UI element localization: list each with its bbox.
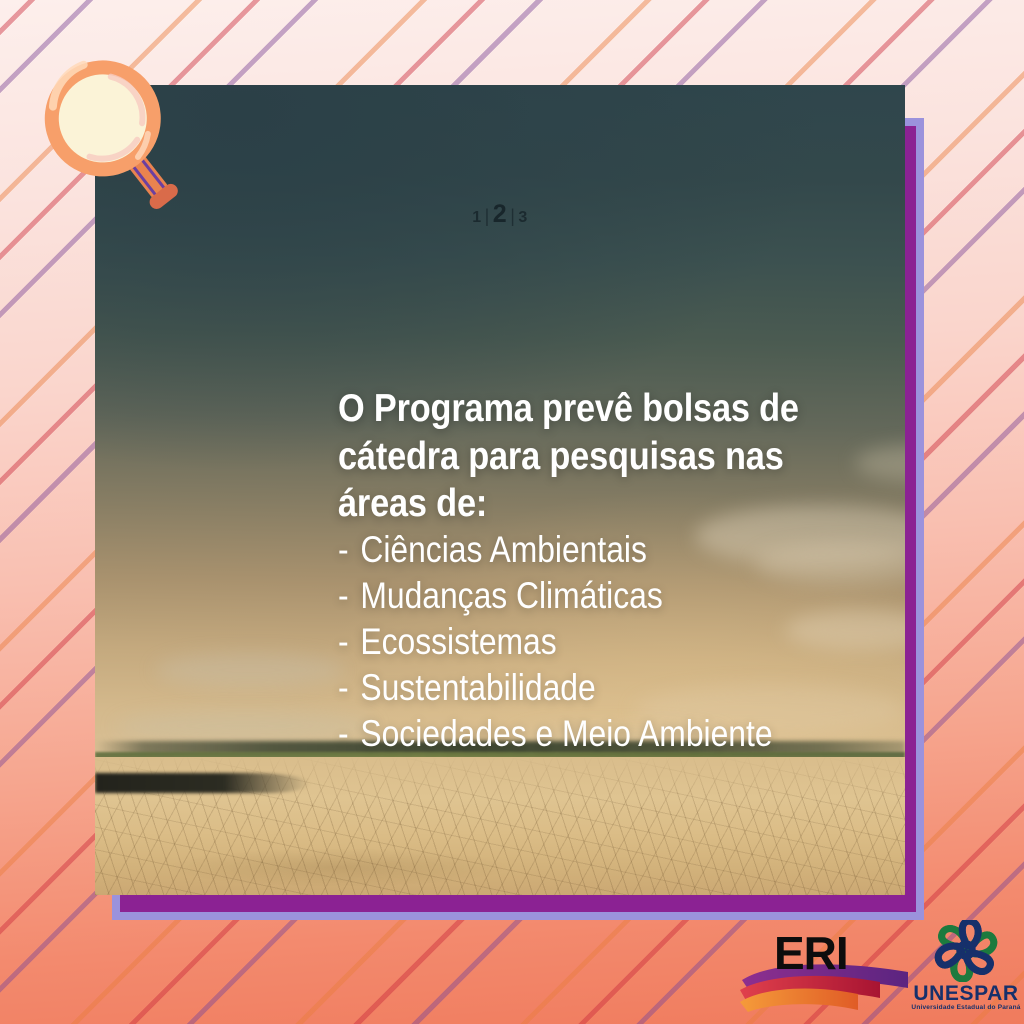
bullet-label: Ciências Ambientais xyxy=(360,529,647,570)
pager-separator: | xyxy=(510,206,515,226)
pager-separator: | xyxy=(485,206,490,226)
photo-water-patch xyxy=(95,773,310,793)
slide-canvas: 1|2|3 O Programa prevê bolsas de cátedra… xyxy=(0,0,1024,1024)
unespar-flower-icon xyxy=(908,920,1024,982)
magnifying-glass-icon xyxy=(12,28,182,228)
bullet-label: Ecossistemas xyxy=(360,621,556,662)
bullet-label: Sustentabilidade xyxy=(360,667,595,708)
pager-current: 2 xyxy=(493,200,507,228)
pager-prev[interactable]: 1 xyxy=(472,209,481,226)
list-item: -Sociedades e Meio Ambiente xyxy=(338,711,888,757)
list-item: -Sustentabilidade xyxy=(338,665,888,711)
eri-logo: ERI xyxy=(740,922,910,1012)
unespar-logo: UNESPAR Universidade Estadual do Paraná xyxy=(908,920,1024,1020)
logo-group: ERI xyxy=(736,920,1024,1024)
bullet-marker: - xyxy=(338,573,360,619)
bullet-marker: - xyxy=(338,527,360,573)
list-item: -Ecossistemas xyxy=(338,619,888,665)
pager-next[interactable]: 3 xyxy=(518,209,527,226)
slide-pager: 1|2|3 xyxy=(95,200,905,229)
eri-wordmark: ERI xyxy=(774,926,848,980)
bullet-label: Sociedades e Meio Ambiente xyxy=(360,713,772,754)
bullet-label: Mudanças Climáticas xyxy=(360,575,662,616)
bullet-marker: - xyxy=(338,665,360,711)
list-item: -Mudanças Climáticas xyxy=(338,573,888,619)
cloud xyxy=(115,711,375,741)
bullet-marker: - xyxy=(338,619,360,665)
list-item: -Ciências Ambientais xyxy=(338,527,888,573)
bullet-list: -Ciências Ambientais -Mudanças Climática… xyxy=(338,527,888,756)
bullet-marker: - xyxy=(338,711,360,757)
unespar-wordmark: UNESPAR xyxy=(908,982,1024,1006)
cloud xyxy=(155,653,345,687)
photo-card: 1|2|3 O Programa prevê bolsas de cátedra… xyxy=(95,85,905,895)
unespar-tagline: Universidade Estadual do Paraná xyxy=(908,1004,1024,1011)
headline-text: O Programa prevê bolsas de cátedra para … xyxy=(338,385,866,528)
